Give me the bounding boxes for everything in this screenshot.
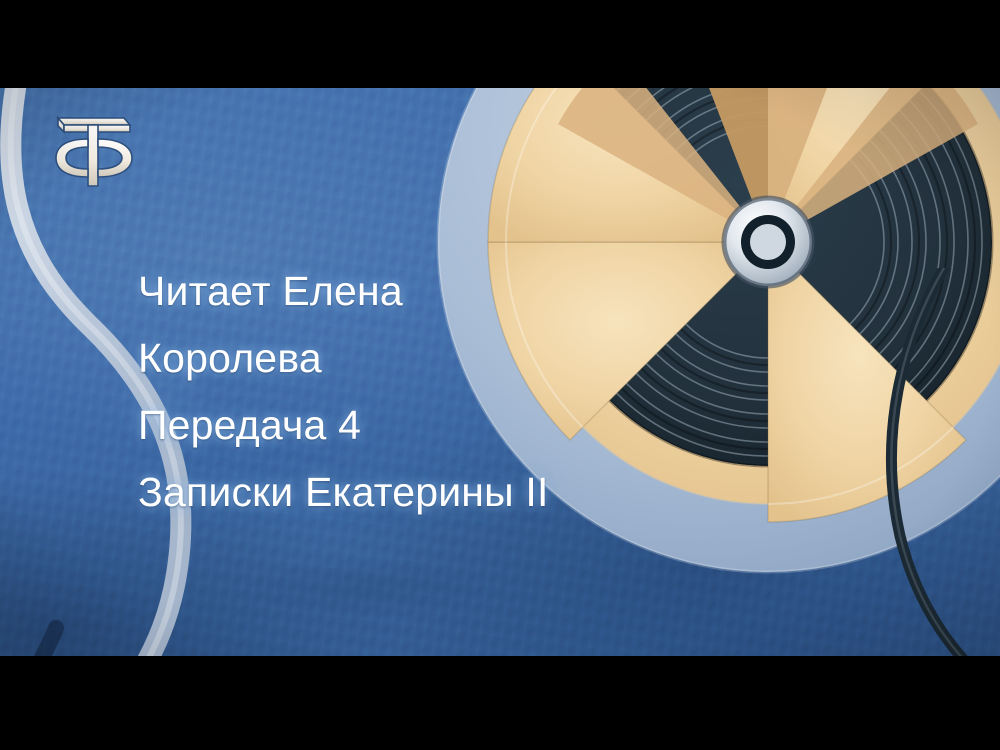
caption-line-3: Передача 4: [138, 392, 758, 459]
caption-block: Читает Елена Королева Передача 4 Записки…: [138, 258, 758, 526]
letterbox-top: [0, 0, 1000, 88]
caption-line-1: Читает Елена: [138, 258, 758, 325]
letterbox-bottom: [0, 656, 1000, 750]
caption-line-2: Королева: [138, 325, 758, 392]
video-frame: Читает Елена Королева Передача 4 Записки…: [0, 88, 1000, 656]
video-player-stage: Читает Елена Королева Передача 4 Записки…: [0, 0, 1000, 750]
gtrf-logo-icon: [46, 106, 138, 192]
caption-line-4: Записки Екатерины II: [138, 459, 758, 526]
tape-strand: [780, 268, 1000, 656]
